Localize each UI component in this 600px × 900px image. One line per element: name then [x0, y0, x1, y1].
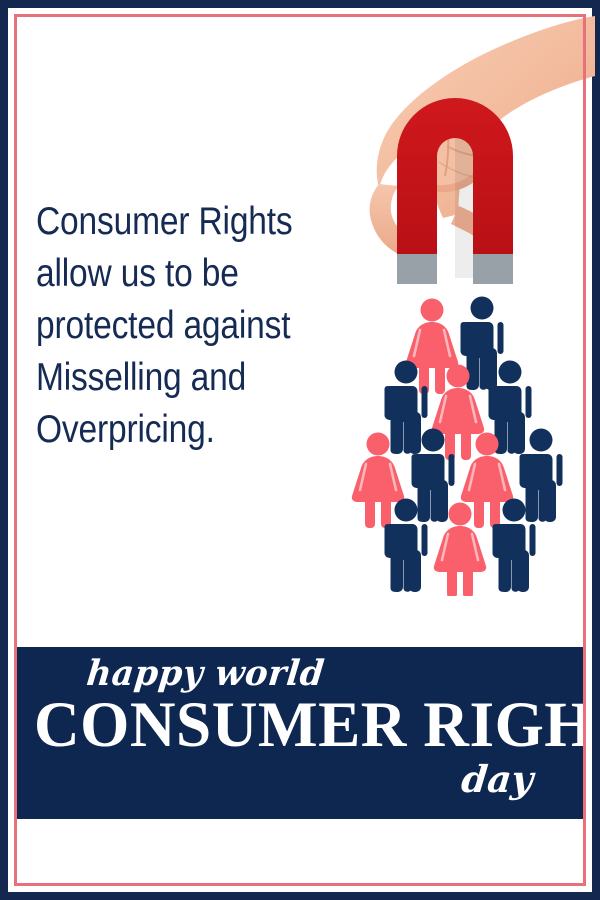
- banner-script-top: happy world: [85, 653, 327, 694]
- banner-script-bottom: day: [459, 757, 535, 801]
- poster-canvas: SALE: [0, 0, 600, 900]
- crowd-of-consumers-illustration: [348, 296, 580, 596]
- magnet-pole-left: [397, 254, 437, 284]
- magnet-pole-right: [473, 254, 513, 284]
- headline-line-3: protected against: [36, 300, 337, 352]
- bottom-banner: happy world CONSUMER RIGHTS day: [16, 647, 584, 819]
- banner-title: CONSUMER RIGHTS: [34, 693, 584, 757]
- headline-line-5: Overpricing.: [36, 404, 337, 456]
- crowd-figure-man: [520, 429, 563, 523]
- headline-message: Consumer Rights allow us to be protected…: [36, 196, 337, 456]
- hand-holding-sale-magnet-illustration: SALE: [355, 6, 595, 296]
- headline-line-1: Consumer Rights: [36, 196, 337, 248]
- headline-line-4: Misselling and: [36, 352, 337, 404]
- headline-line-2: allow us to be: [36, 248, 337, 300]
